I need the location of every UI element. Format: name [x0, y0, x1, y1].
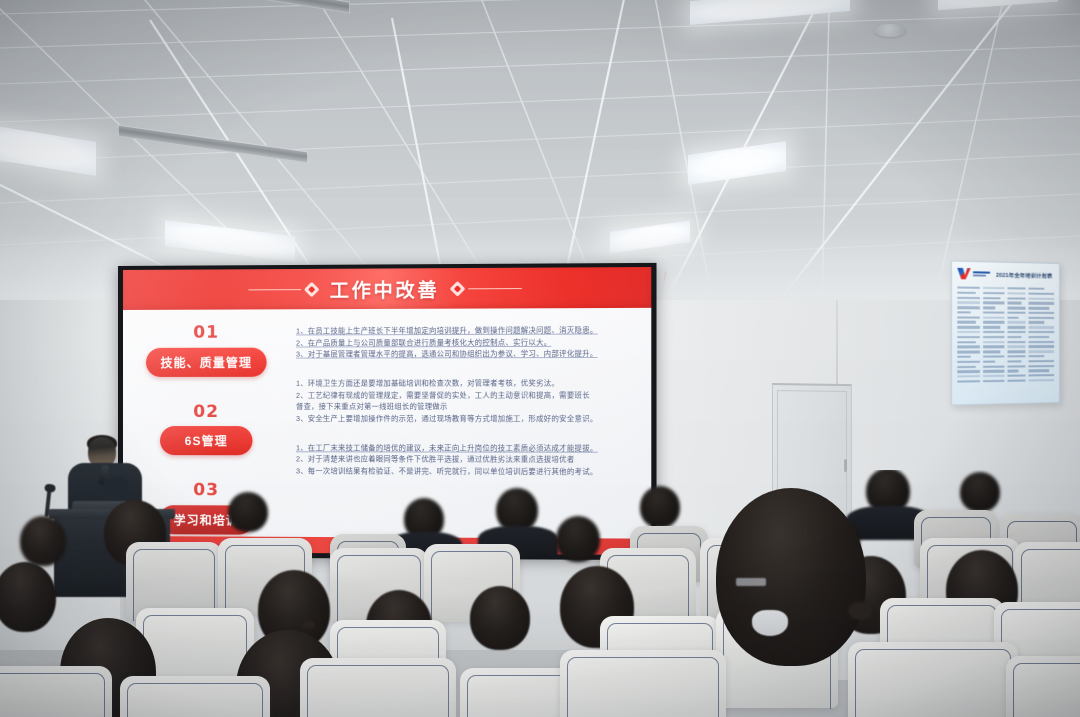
audience-chair	[1006, 656, 1080, 717]
audience-chair	[0, 666, 112, 717]
poster-table-column	[957, 284, 980, 400]
audience-head	[228, 492, 268, 532]
audience-head	[716, 488, 866, 666]
slide-title-bar: 工作中改善	[123, 267, 651, 310]
slide-text-line: 2、工艺纪律有现成的管理规定，需要坚督促的实处，工人的主动意识和提高，需要班长	[296, 389, 637, 401]
audience-head	[556, 516, 600, 562]
slide-title: 工作中改善	[330, 275, 440, 303]
step-pill-label: 6S管理	[160, 426, 253, 455]
audience-head	[960, 472, 1000, 512]
slide-text-line: 2、对于清楚来讲也应着眼同等条件下优胜平选拔，通过优胜劣汰来重点选拔培优者	[296, 454, 637, 466]
slide-text-line: 2、在产品质量上与公司质量部联合进行质量考核化大的控制点、实行以大。	[296, 336, 637, 349]
audience-head	[20, 516, 66, 566]
smoke-detector-icon	[874, 24, 906, 37]
slide-text-line: 1、在工厂末来技工储备的培优的建议，未来正向上升岗位的技工素质必须达成才能提拔。	[296, 442, 637, 454]
logo-mark-icon	[957, 268, 970, 280]
audience-seating	[0, 470, 1080, 717]
step-number: 02	[193, 403, 219, 422]
slide-text-line: 1、环境卫生方面还是要增加基础培训和检查次数，对管理者考核，优奖劣汰。	[296, 377, 637, 389]
slide-paragraph: 1、在员工技能上生产班长下半年增加定向培训提升，做到操作问题解决问题、消灭隐患。…	[296, 324, 637, 360]
audience-head	[0, 562, 56, 632]
audience-chair	[120, 676, 270, 717]
audience-head	[470, 586, 530, 650]
title-ornament-left	[249, 283, 318, 294]
poster-title: 2021年全年培训计划表	[994, 269, 1054, 280]
audience-hair-tie	[302, 620, 315, 629]
slide-text-line: 督查，接下来重点对第一线班组长的管理做示	[296, 401, 637, 413]
slide-text-line: 1、在员工技能上生产班长下半年增加定向培训提升，做到操作问题解决问题、消灭隐患。	[296, 324, 637, 337]
poster-header: 2021年全年培训计划表	[957, 268, 1054, 281]
poster-table-column	[983, 285, 1004, 400]
company-logo-icon	[957, 268, 990, 280]
ornament-line	[249, 289, 302, 290]
step-number: 01	[193, 324, 219, 343]
ceiling	[0, 0, 1080, 300]
poster-table	[957, 284, 1054, 400]
meeting-room-photo: 工作中改善 01 技能、质量管理 02 6S管理	[0, 0, 1080, 717]
audience-chair	[848, 642, 1018, 717]
diamond-ornament-icon	[449, 280, 465, 296]
ornament-line	[468, 288, 521, 289]
slide-step: 01 技能、质量管理	[123, 323, 290, 376]
title-ornament-right	[452, 282, 522, 294]
slide-text-line: 3、对于基层管理者管理水平的提高，选通公司和协组织出为参议、学习、内部评化提升。	[296, 348, 637, 361]
wall-poster-training-plan: 2021年全年培训计划表	[951, 260, 1060, 405]
poster-table-column	[1007, 285, 1026, 399]
face-mask-icon	[752, 610, 788, 636]
audience-chair	[560, 650, 726, 717]
slide-paragraph: 1、环境卫生方面还是要增加基础培训和检查次数，对管理者考核，优奖劣汰。 2、工艺…	[296, 377, 637, 425]
diamond-ornament-icon	[304, 281, 320, 297]
audience-head	[640, 486, 680, 528]
poster-table-column	[1029, 286, 1055, 399]
audience-hair-tie	[848, 602, 872, 620]
logo-wordmark	[973, 271, 990, 277]
eyeglasses-icon	[736, 578, 766, 586]
step-pill-label: 技能、质量管理	[146, 347, 266, 376]
slide-text-line: 3、安全生产上要增加操作件的示范，通过现场教育等方式增加施工，形成好的安全意识。	[296, 413, 637, 425]
audience-chair	[300, 658, 456, 717]
